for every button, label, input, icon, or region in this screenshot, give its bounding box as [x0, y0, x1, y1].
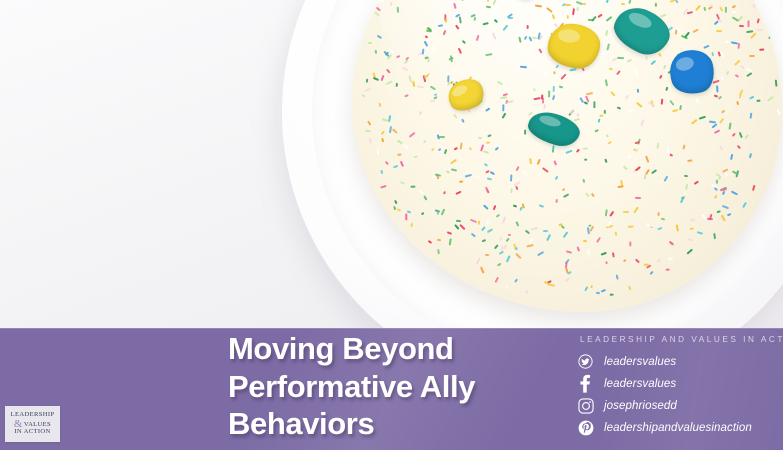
pinterest-icon[interactable]	[578, 420, 604, 436]
social-link-facebook[interactable]: leadersvalues	[578, 373, 783, 394]
social-handle-twitter: leadersvalues	[604, 356, 676, 368]
title-line-2: Performative Ally	[228, 368, 558, 406]
brand-kicker-text: LEADERSHIP AND VALUES IN ACTION	[580, 335, 783, 344]
frosted-cake	[352, 0, 782, 312]
social-link-instagram[interactable]: josephriosedd	[578, 395, 783, 416]
social-accounts-list: leadersvaluesleadersvaluesjosephrioseddl…	[578, 351, 783, 438]
social-link-twitter[interactable]: leadersvalues	[578, 351, 783, 372]
brand-logo[interactable]: LEADERSHIP & VALUES IN ACTION	[5, 406, 60, 442]
title-line-1: Moving Beyond	[228, 330, 558, 368]
promo-banner: LEADERSHIP & VALUES IN ACTION Moving Bey…	[0, 0, 783, 450]
facebook-icon[interactable]	[578, 374, 604, 393]
title-line-3: Behaviors	[228, 405, 558, 443]
social-links-block: LEADERSHIP AND VALUES IN ACTION leadersv…	[578, 335, 783, 439]
cake-photo	[0, 0, 783, 328]
twitter-icon[interactable]	[578, 354, 604, 369]
social-link-pinterest[interactable]: leadershipandvaluesinaction	[578, 417, 783, 438]
logo-ampersand: &	[14, 420, 23, 429]
page-title: Moving Beyond Performative Ally Behavior…	[228, 330, 558, 443]
instagram-icon[interactable]	[578, 398, 604, 414]
band-top-highlight	[0, 328, 783, 329]
social-handle-pinterest: leadershipandvaluesinaction	[604, 422, 752, 434]
social-handle-facebook: leadersvalues	[604, 378, 676, 390]
social-handle-instagram: josephriosedd	[604, 400, 677, 412]
